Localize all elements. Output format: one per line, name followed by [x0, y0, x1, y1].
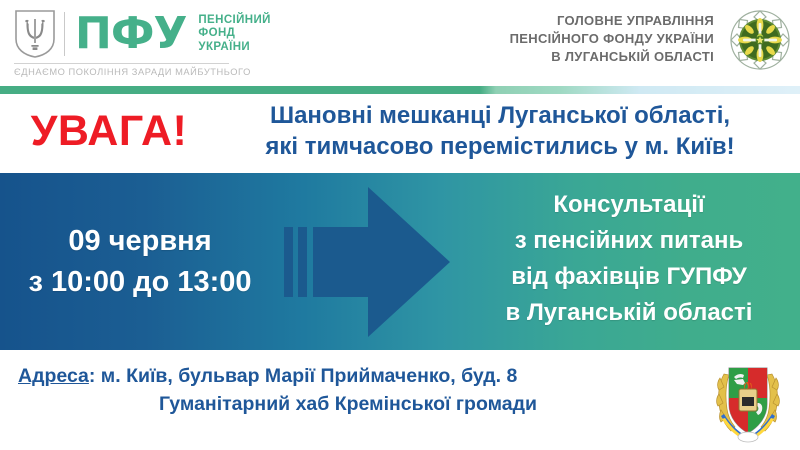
event-date: 09 червня [6, 221, 274, 262]
consultation-line4: в Луганській області [462, 295, 796, 331]
pfu-tagline-wrap: ЄДНАЄМО ПОКОЛІННЯ ЗАРАДИ МАЙБУТНЬОГО [14, 63, 229, 77]
department-line2: ПЕНСІЙНОГО ФОНДУ УКРАЇНИ [510, 30, 714, 48]
attention-word: УВАГА! [14, 106, 204, 156]
event-datetime: 09 червня з 10:00 до 13:00 [6, 221, 274, 303]
consultation-line2: з пенсійних питань [462, 223, 796, 259]
consultation-text: Консультації з пенсійних питань від фахі… [462, 187, 796, 331]
main-gradient-panel: 09 червня з 10:00 до 13:00 Консультації … [0, 173, 800, 350]
header-gradient-strip [0, 86, 800, 94]
right-arrow-icon [282, 181, 462, 343]
attention-message-line2: які тимчасово перемістились у м. Київ! [214, 131, 786, 162]
event-time: з 10:00 до 13:00 [6, 262, 274, 303]
announcement-poster: ПФУ ПЕНСІЙНИЙ ФОНД УКРАЇНИ ЄДНАЄМО ПОКОЛ… [0, 0, 800, 450]
pfu-acronym: ПФУ [75, 12, 186, 56]
attention-band: УВАГА! Шановні мешканці Луганської облас… [0, 94, 800, 173]
luhansk-oblast-coat-of-arms-icon [710, 360, 786, 444]
pfu-logo: ПФУ ПЕНСІЙНИЙ ФОНД УКРАЇНИ ЄДНАЄМО ПОКОЛ… [14, 9, 271, 77]
address-line-2: Гуманітарний хаб Кремінської громади [18, 390, 678, 418]
attention-message-line1: Шановні мешканці Луганської області, [214, 100, 786, 131]
address-value: : м. Київ, бульвар Марії Приймаченко, бу… [89, 365, 517, 387]
tagline-rule [14, 63, 229, 64]
department-line3: В ЛУГАНСЬКІЙ ОБЛАСТІ [510, 48, 714, 66]
address-label: Адреса [18, 365, 89, 387]
pfu-tagline: ЄДНАЄМО ПОКОЛІННЯ ЗАРАДИ МАЙБУТНЬОГО [14, 67, 229, 77]
pfu-fullname-line3: УКРАЇНИ [198, 41, 270, 55]
pfu-fullname-line2: ФОНД [198, 27, 270, 41]
poster-footer: Адреса: м. Київ, бульвар Марії Приймачен… [0, 350, 800, 450]
logo-divider [64, 12, 65, 56]
address-line-1: Адреса: м. Київ, бульвар Марії Приймачен… [18, 362, 678, 390]
department-line1: ГОЛОВНЕ УПРАВЛІННЯ [510, 12, 714, 30]
address-block: Адреса: м. Київ, бульвар Марії Приймачен… [18, 362, 678, 418]
pfu-round-emblem-icon [729, 9, 791, 71]
consultation-line1: Консультації [462, 187, 796, 223]
pfu-fullname: ПЕНСІЙНИЙ ФОНД УКРАЇНИ [198, 14, 270, 55]
attention-message: Шановні мешканці Луганської області, які… [214, 100, 786, 162]
consultation-line3: від фахівців ГУПФУ [462, 259, 796, 295]
poster-header: ПФУ ПЕНСІЙНИЙ ФОНД УКРАЇНИ ЄДНАЄМО ПОКОЛ… [0, 0, 800, 86]
ukraine-trident-shield-icon [14, 9, 56, 59]
pfu-fullname-line1: ПЕНСІЙНИЙ [198, 14, 270, 28]
department-title: ГОЛОВНЕ УПРАВЛІННЯ ПЕНСІЙНОГО ФОНДУ УКРА… [510, 12, 714, 66]
